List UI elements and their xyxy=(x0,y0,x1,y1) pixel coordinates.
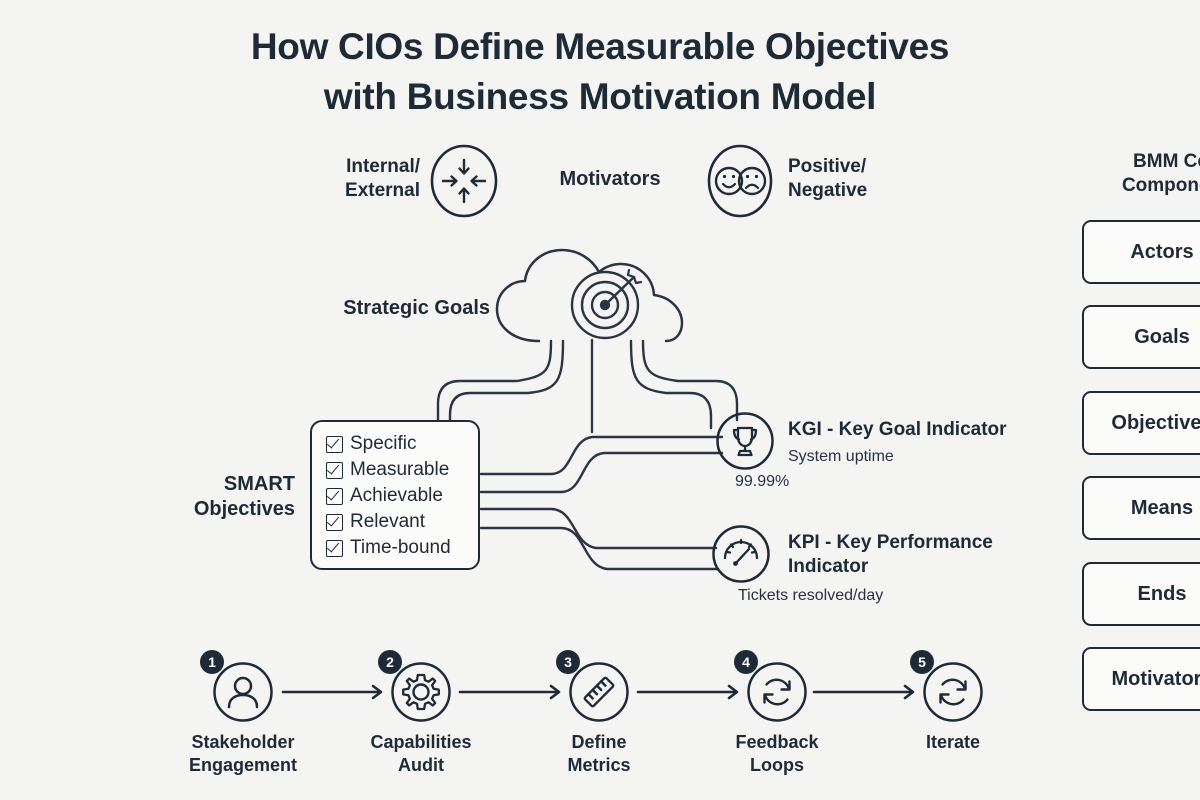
step-number-badge: 1 xyxy=(200,650,224,674)
refresh-cycle-icon xyxy=(747,662,807,722)
step-number-badge: 4 xyxy=(734,650,758,674)
refresh-cycle-icon xyxy=(923,662,983,722)
person-icon xyxy=(213,662,273,722)
step-label: Iterate xyxy=(878,731,1028,754)
step-icon-wrap: 3 xyxy=(569,662,629,722)
ruler-icon xyxy=(569,662,629,722)
step-number-badge: 3 xyxy=(556,650,580,674)
step-icon-wrap: 4 xyxy=(747,662,807,722)
process-step-5[interactable]: 5 Iterate xyxy=(878,662,1028,754)
step-label: Capabilities Audit xyxy=(346,731,496,777)
infographic-canvas: How CIOs Define Measurable Objectives wi… xyxy=(0,0,1200,800)
step-icon-wrap: 2 xyxy=(391,662,451,722)
step-icon-wrap: 1 xyxy=(213,662,273,722)
process-step-2[interactable]: 2 Capabilities Audit xyxy=(346,662,496,777)
step-label: Stakeholder Engagement xyxy=(168,731,318,777)
process-step-1[interactable]: 1 Stakeholder Engagement xyxy=(168,662,318,777)
step-label: Define Metrics xyxy=(524,731,674,777)
process-step-3[interactable]: 3 Define Metrics xyxy=(524,662,674,777)
step-icon-wrap: 5 xyxy=(923,662,983,722)
step-number-badge: 5 xyxy=(910,650,934,674)
process-step-4[interactable]: 4 Feedback Loops xyxy=(702,662,852,777)
step-number-badge: 2 xyxy=(378,650,402,674)
step-label: Feedback Loops xyxy=(702,731,852,777)
gear-icon xyxy=(391,662,451,722)
